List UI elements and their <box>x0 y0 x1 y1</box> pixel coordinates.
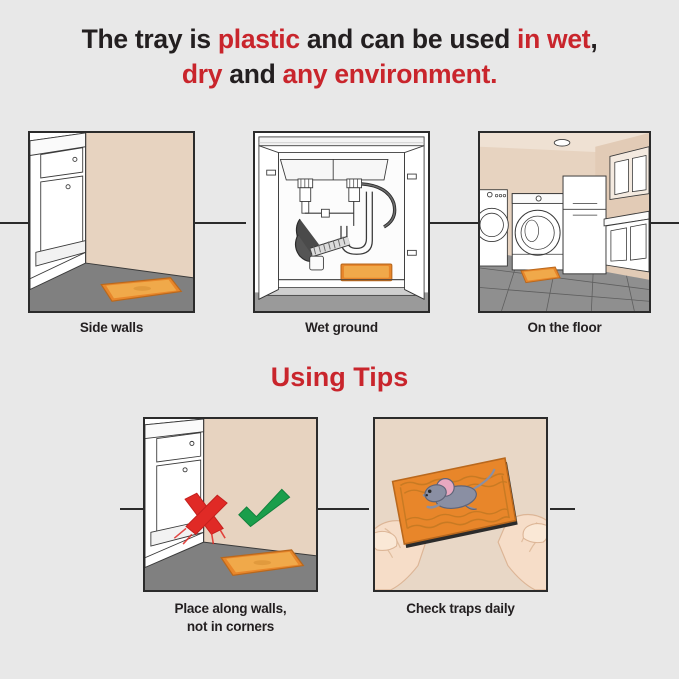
headline-line-2: dry and any environment. <box>0 57 679 92</box>
headline-seg-4: , <box>590 24 597 54</box>
connector-line-top-2 <box>429 222 480 224</box>
caption-text: Wet ground <box>305 320 378 335</box>
connector-line-bottom-1 <box>317 508 369 510</box>
caption-on-the-floor: On the floor <box>478 319 651 337</box>
headline-seg-1: plastic <box>218 24 300 54</box>
caption-side-walls: Side walls <box>28 319 195 337</box>
caption-place-along-walls: Place along walls, not in corners <box>125 600 336 636</box>
panel-place-along-walls[interactable] <box>143 417 318 592</box>
headline-seg-6: and <box>222 59 282 89</box>
page-headline: The tray is plastic and can be used in w… <box>0 22 679 92</box>
headline-seg-7: any environment. <box>283 59 498 89</box>
headline-seg-5: dry <box>182 59 222 89</box>
caption-wet-ground: Wet ground <box>253 319 430 337</box>
caption-text: Side walls <box>80 320 143 335</box>
caption-text-line1: Place along walls, <box>125 600 336 618</box>
corner-placement-icon <box>145 419 316 590</box>
caption-text: On the floor <box>527 320 601 335</box>
sink-plumbing-icon <box>255 133 428 311</box>
connector-line-bottom-right-stub <box>550 508 575 510</box>
washer-dryer-icon <box>480 133 649 311</box>
headline-line-1: The tray is plastic and can be used in w… <box>0 22 679 57</box>
headline-seg-2: and can be used <box>300 24 517 54</box>
connector-line-top-1 <box>194 222 246 224</box>
cabinet-icon <box>30 133 193 311</box>
headline-seg-3: in wet <box>517 24 590 54</box>
panel-side-walls[interactable] <box>28 131 195 313</box>
headline-seg-0: The tray is <box>82 24 218 54</box>
caption-text-line2: not in corners <box>125 618 336 636</box>
caption-text-line1: Check traps daily <box>373 600 548 618</box>
panel-on-the-floor[interactable] <box>478 131 651 313</box>
connector-line-top-left-stub <box>0 222 30 224</box>
connector-line-top-right-stub <box>650 222 679 224</box>
connector-line-bottom-left-stub <box>120 508 145 510</box>
section-title-using-tips: Using Tips <box>0 362 679 393</box>
tray-shape <box>341 264 392 281</box>
hands-holding-trap-icon <box>375 419 546 590</box>
panel-wet-ground[interactable] <box>253 131 430 313</box>
panel-check-traps-daily[interactable] <box>373 417 548 592</box>
caption-check-traps-daily: Check traps daily <box>373 600 548 618</box>
